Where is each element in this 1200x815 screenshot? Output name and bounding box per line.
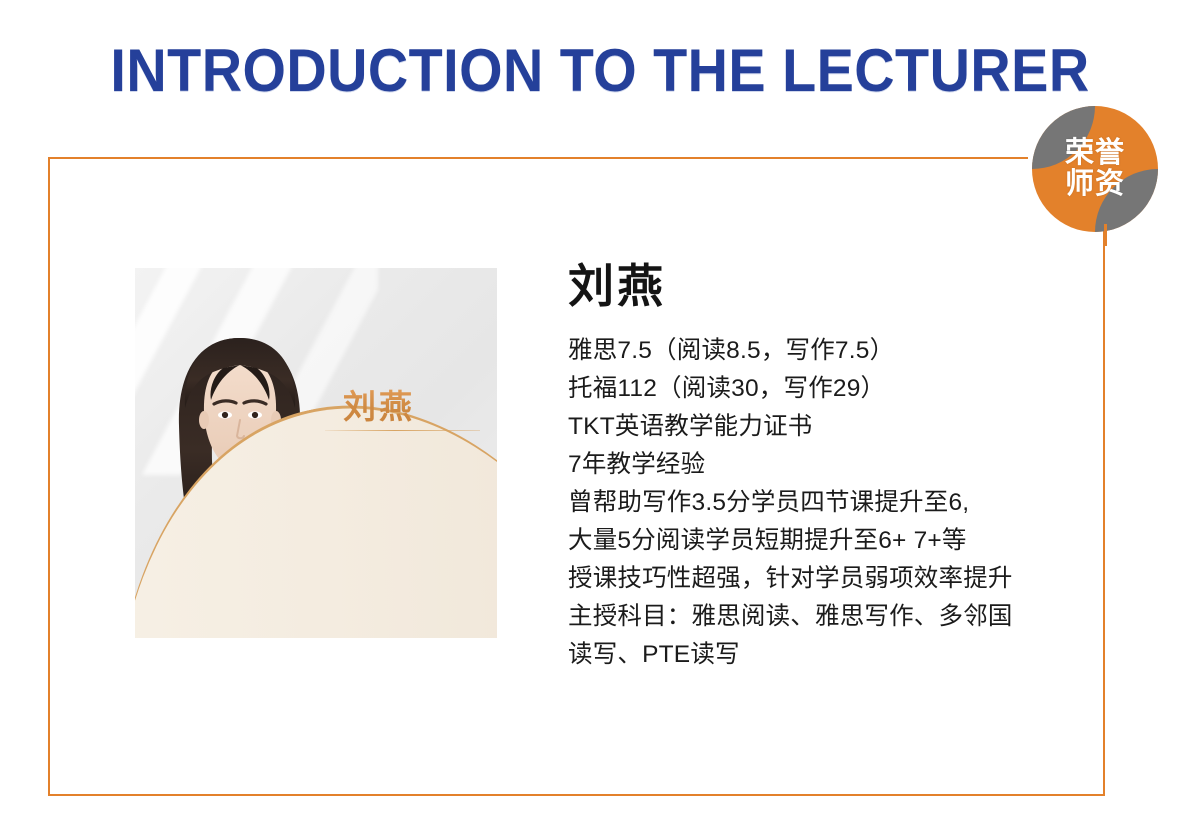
honor-faculty-badge: 荣誉 师资 [1032, 106, 1158, 232]
lecturer-info-panel: 刘燕 雅思7.5（阅读8.5，写作7.5） 托福112（阅读30，写作29） T… [568, 262, 1088, 674]
photo-name-underline [325, 430, 480, 431]
photo-name-overlay: 刘燕 [343, 380, 415, 428]
iris-left [222, 412, 228, 418]
badge-line-2: 师资 [1065, 169, 1125, 200]
credential-item: 授课技巧性超强，针对学员弱项效率提升 [568, 560, 1088, 598]
credential-item: TKT英语教学能力证书 [568, 408, 1088, 446]
credential-item: 雅思7.5（阅读8.5，写作7.5） [568, 332, 1088, 370]
badge-line-1: 荣誉 [1065, 138, 1125, 169]
page-title: INTRODUCTION TO THE LECTURER [42, 36, 1158, 105]
credential-item: 主授科目：雅思阅读、雅思写作、多邻国 [568, 598, 1088, 636]
credential-list: 雅思7.5（阅读8.5，写作7.5） 托福112（阅读30，写作29） TKT英… [568, 332, 1088, 674]
iris-right [252, 412, 258, 418]
lecturer-photo: 刘燕 [135, 268, 497, 638]
credential-item: 读写、PTE读写 [568, 636, 1088, 674]
ear-left [199, 411, 209, 429]
credential-item: 7年教学经验 [568, 446, 1088, 484]
badge-text: 荣誉 师资 [1032, 106, 1158, 232]
credential-item: 托福112（阅读30，写作29） [568, 370, 1088, 408]
badge-connector-line [1104, 224, 1107, 246]
credential-item: 大量5分阅读学员短期提升至6+ 7+等 [568, 522, 1088, 560]
credential-item: 曾帮助写作3.5分学员四节课提升至6, [568, 484, 1088, 522]
lecturer-name: 刘燕 [568, 262, 1088, 310]
